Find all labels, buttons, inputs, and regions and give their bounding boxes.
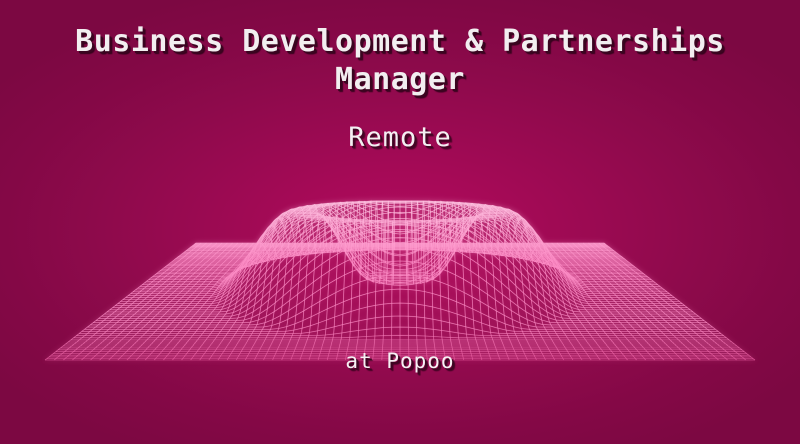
company-name: at Popoo <box>0 349 800 374</box>
job-location: Remote <box>348 122 452 154</box>
text-layer: Business Development & Partnerships Mana… <box>0 0 800 444</box>
job-posting-card: Business Development & Partnerships Mana… <box>0 0 800 444</box>
job-title: Business Development & Partnerships Mana… <box>30 23 770 99</box>
